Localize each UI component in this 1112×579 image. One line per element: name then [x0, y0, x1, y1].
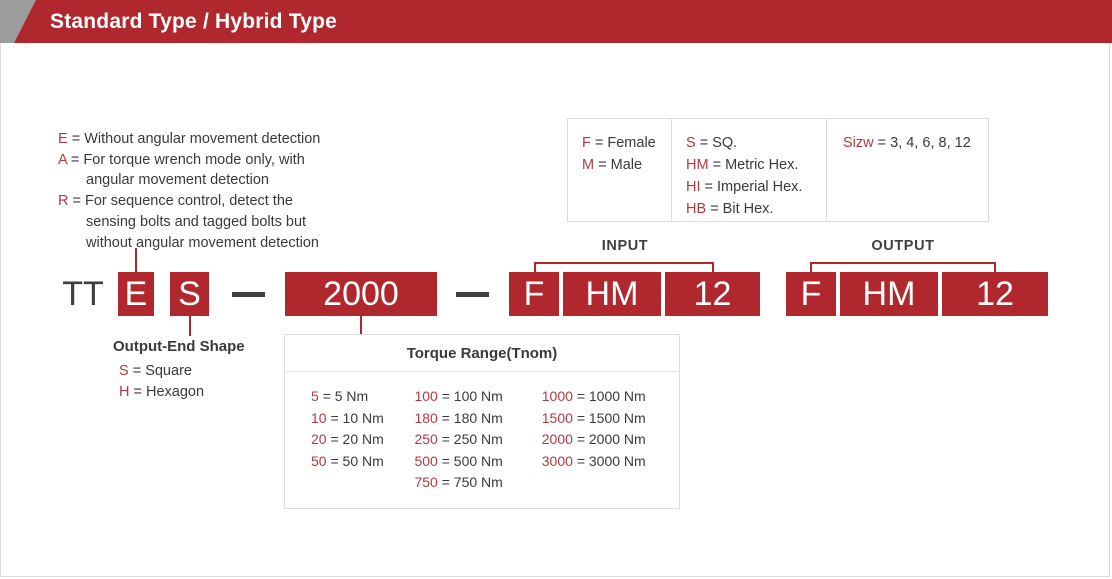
- box-desc: = Female: [595, 135, 656, 151]
- torque-row: 1000 = 1000 Nm: [542, 386, 679, 408]
- output-label: OUTPUT: [810, 238, 996, 254]
- box-desc: = 3, 4, 6, 8, 12: [878, 135, 971, 151]
- diagram-page: Standard Type / Hybrid Type E = Without …: [0, 0, 1112, 579]
- code-chip-input-gender: F: [509, 272, 559, 316]
- torque-row: 3000 = 3000 Nm: [542, 451, 679, 473]
- code-chip-input-drive: HM: [563, 272, 661, 316]
- code-chip-output-end-shape: S: [170, 272, 209, 316]
- legend-item: E = Without angular movement detection: [58, 129, 368, 150]
- box-row: HM = Metric Hex.: [686, 154, 812, 176]
- box-row: M = Male: [582, 154, 657, 176]
- torque-row: 180 = 180 Nm: [414, 408, 541, 430]
- connector-s-down: [189, 316, 191, 336]
- code-chip-torque: 2000: [285, 272, 437, 316]
- box-row: HB = Bit Hex.: [686, 198, 812, 220]
- box-desc: = SQ.: [700, 135, 737, 151]
- torque-key: 50: [311, 453, 327, 469]
- code-dash-1: [232, 292, 265, 297]
- torque-key: 100: [414, 388, 437, 404]
- torque-value: = 3000 Nm: [577, 453, 646, 469]
- torque-value: = 250 Nm: [442, 431, 503, 447]
- box-key: M: [582, 157, 594, 173]
- torque-key: 2000: [542, 431, 573, 447]
- torque-key: 500: [414, 453, 437, 469]
- connector-e-up: [135, 248, 137, 274]
- oes-key: H: [119, 384, 129, 400]
- legend-key: A: [58, 152, 67, 168]
- header-banner: Standard Type / Hybrid Type: [0, 0, 1112, 43]
- size-box: Sizw = 3, 4, 6, 8, 12: [827, 118, 989, 222]
- box-desc: = Metric Hex.: [713, 157, 799, 173]
- box-row: F = Female: [582, 132, 657, 154]
- drive-type-box: S = SQ. HM = Metric Hex. HI = Imperial H…: [672, 118, 827, 222]
- box-desc: = Imperial Hex.: [705, 179, 803, 195]
- torque-row: 500 = 500 Nm: [414, 451, 541, 473]
- torque-table-title: Torque Range(Tnom): [285, 335, 679, 372]
- box-row: HI = Imperial Hex.: [686, 176, 812, 198]
- torque-key: 180: [414, 410, 437, 426]
- gender-box: F = Female M = Male: [567, 118, 672, 222]
- box-key: HI: [686, 179, 701, 195]
- legend-desc: = For torque wrench mode only, with: [71, 152, 305, 168]
- page-title: Standard Type / Hybrid Type: [50, 0, 337, 43]
- input-label: INPUT: [534, 238, 716, 254]
- legend-desc: = For sequence control, detect the: [73, 193, 293, 209]
- torque-value: = 100 Nm: [442, 388, 503, 404]
- torque-row: 1500 = 1500 Nm: [542, 408, 679, 430]
- legend-key: R: [58, 193, 68, 209]
- torque-key: 1000: [542, 388, 573, 404]
- code-chip-output-gender: F: [786, 272, 836, 316]
- torque-table-body: 5 = 5 Nm 10 = 10 Nm 20 = 20 Nm 50 = 50 N…: [285, 372, 679, 508]
- torque-row: 750 = 750 Nm: [414, 472, 541, 494]
- box-key: HM: [686, 157, 709, 173]
- torque-column: 1000 = 1000 Nm 1500 = 1500 Nm 2000 = 200…: [542, 386, 679, 494]
- box-desc: = Male: [598, 157, 642, 173]
- torque-column: 100 = 100 Nm 180 = 180 Nm 250 = 250 Nm 5…: [406, 386, 541, 494]
- oes-key: S: [119, 363, 129, 379]
- torque-key: 5: [311, 388, 319, 404]
- code-chip-output-size: 12: [942, 272, 1048, 316]
- box-desc: = Bit Hex.: [710, 201, 773, 217]
- oes-row: S = Square: [113, 361, 245, 382]
- torque-value: = 750 Nm: [442, 474, 503, 490]
- code-chip-output-drive: HM: [840, 272, 938, 316]
- torque-value: = 2000 Nm: [577, 431, 646, 447]
- box-key: Sizw: [843, 135, 874, 151]
- torque-range-table: Torque Range(Tnom) 5 = 5 Nm 10 = 10 Nm 2…: [284, 334, 680, 509]
- torque-key: 10: [311, 410, 327, 426]
- code-dash-2: [456, 292, 489, 297]
- box-key: HB: [686, 201, 706, 217]
- torque-key: 250: [414, 431, 437, 447]
- oes-row: H = Hexagon: [113, 382, 245, 403]
- torque-row: 5 = 5 Nm: [311, 386, 406, 408]
- oes-desc: = Square: [133, 363, 192, 379]
- torque-row: 10 = 10 Nm: [311, 408, 406, 430]
- input-bracket-top: [534, 262, 714, 264]
- torque-key: 20: [311, 431, 327, 447]
- torque-key: 1500: [542, 410, 573, 426]
- torque-row: 100 = 100 Nm: [414, 386, 541, 408]
- box-row: S = SQ.: [686, 132, 812, 154]
- legend-item: A = For torque wrench mode only, with: [58, 150, 368, 171]
- torque-value: = 1500 Nm: [577, 410, 646, 426]
- box-key: S: [686, 135, 696, 151]
- torque-value: = 1000 Nm: [577, 388, 646, 404]
- torque-value: = 10 Nm: [330, 410, 383, 426]
- connector-torque-down: [360, 316, 362, 336]
- torque-row: 50 = 50 Nm: [311, 451, 406, 473]
- output-bracket-top: [810, 262, 996, 264]
- legend-key: E: [58, 131, 68, 147]
- box-row: Sizw = 3, 4, 6, 8, 12: [843, 132, 974, 154]
- legend-desc-cont: angular movement detection: [58, 170, 368, 191]
- torque-value: = 500 Nm: [442, 453, 503, 469]
- code-chip-input-size: 12: [665, 272, 760, 316]
- torque-row: 250 = 250 Nm: [414, 429, 541, 451]
- torque-value: = 5 Nm: [323, 388, 369, 404]
- box-key: F: [582, 135, 591, 151]
- torque-key: 750: [414, 474, 437, 490]
- output-end-shape-legend: Output-End Shape S = Square H = Hexagon: [113, 336, 245, 403]
- torque-row: 20 = 20 Nm: [311, 429, 406, 451]
- torque-value: = 50 Nm: [330, 453, 383, 469]
- torque-value: = 180 Nm: [442, 410, 503, 426]
- mode-legend: E = Without angular movement detection A…: [58, 129, 368, 253]
- code-prefix: TT: [52, 272, 114, 316]
- code-chip-mode: E: [118, 272, 154, 316]
- oes-desc: = Hexagon: [134, 384, 205, 400]
- torque-column: 5 = 5 Nm 10 = 10 Nm 20 = 20 Nm 50 = 50 N…: [285, 386, 406, 494]
- legend-desc-cont: without angular movement detection: [58, 233, 368, 254]
- torque-key: 3000: [542, 453, 573, 469]
- legend-item: R = For sequence control, detect the: [58, 191, 368, 212]
- legend-desc-cont: sensing bolts and tagged bolts but: [58, 212, 368, 233]
- top-reference-boxes: F = Female M = Male S = SQ. HM = Metric …: [567, 118, 989, 222]
- legend-desc: = Without angular movement detection: [72, 131, 321, 147]
- torque-row: 2000 = 2000 Nm: [542, 429, 679, 451]
- torque-value: = 20 Nm: [330, 431, 383, 447]
- output-end-shape-title: Output-End Shape: [113, 336, 245, 357]
